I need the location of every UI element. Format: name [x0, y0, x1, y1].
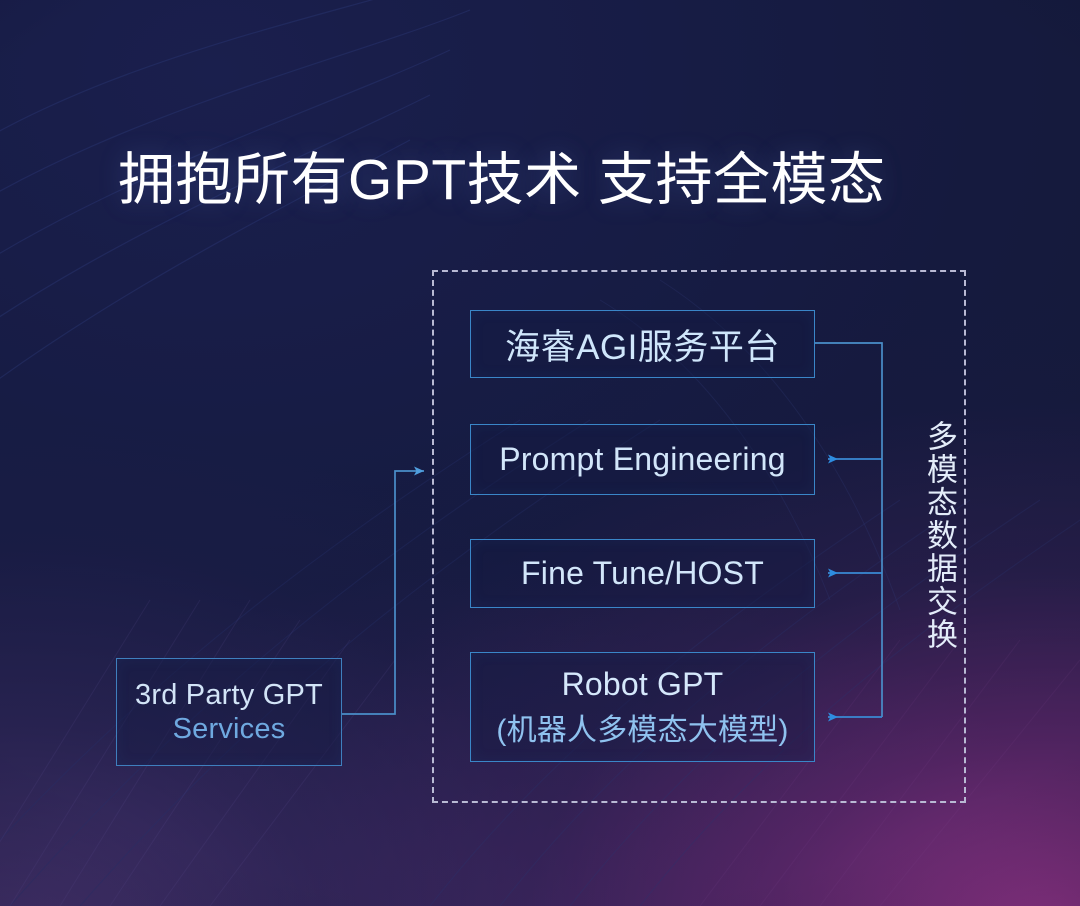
vertical-label-data-exchange: 多模态数据交换: [912, 420, 956, 651]
node-label-line1: Prompt Engineering: [499, 441, 785, 478]
node-fine-tune-host[interactable]: Fine Tune/HOST: [470, 539, 815, 608]
node-label-line1: Robot GPT: [562, 666, 724, 703]
slide-canvas: 拥抱所有GPT技术 支持全模态 海睿AGI服务平台 Pr: [0, 0, 1080, 906]
node-label-line1: Fine Tune/HOST: [521, 555, 764, 592]
node-robot-gpt[interactable]: Robot GPT (机器人多模态大模型): [470, 652, 815, 762]
node-label-line2: (机器人多模态大模型): [496, 705, 788, 749]
node-prompt-engineering[interactable]: Prompt Engineering: [470, 424, 815, 495]
node-label-line1: 3rd Party GPT: [135, 679, 323, 712]
node-third-party-gpt-services[interactable]: 3rd Party GPT Services: [116, 658, 342, 766]
page-title: 拥抱所有GPT技术 支持全模态: [118, 150, 886, 212]
node-label-line1: 海睿AGI服务平台: [505, 319, 780, 370]
node-label-line2: Services: [173, 713, 286, 746]
node-agi-platform[interactable]: 海睿AGI服务平台: [470, 310, 815, 378]
